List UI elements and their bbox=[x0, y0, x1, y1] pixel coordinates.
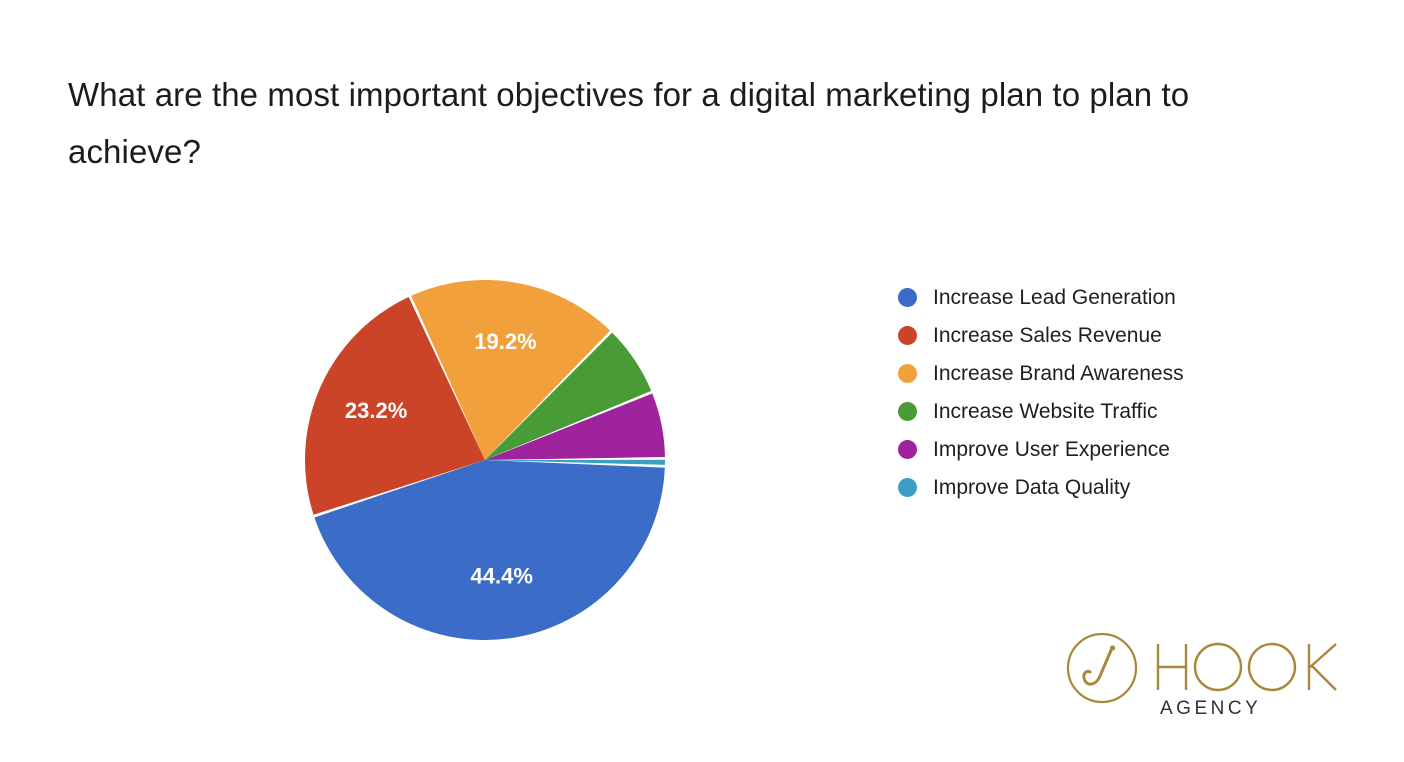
logo-wordmark-agency: AGENCY bbox=[1160, 698, 1261, 719]
slide-canvas: What are the most important objectives f… bbox=[0, 0, 1404, 762]
hook-agency-logo-svg: AGENCY bbox=[1062, 630, 1342, 720]
pie-chart-svg: 44.4%23.2%19.2% bbox=[275, 250, 695, 670]
logo-wordmark-hook bbox=[1158, 644, 1336, 690]
fish-hook-in-circle-icon bbox=[1068, 634, 1136, 702]
pie-slice-label: 23.2% bbox=[345, 398, 407, 423]
legend-item[interactable]: Improve Data Quality bbox=[898, 468, 1298, 506]
legend-dot-icon bbox=[898, 364, 917, 383]
pie-slice-label: 44.4% bbox=[471, 563, 533, 588]
legend-item[interactable]: Increase Sales Revenue bbox=[898, 316, 1298, 354]
legend-dot-icon bbox=[898, 478, 917, 497]
legend-item[interactable]: Increase Lead Generation bbox=[898, 278, 1298, 316]
legend-dot-icon bbox=[898, 440, 917, 459]
legend-item[interactable]: Increase Brand Awareness bbox=[898, 354, 1298, 392]
legend-dot-icon bbox=[898, 288, 917, 307]
legend-dot-icon bbox=[898, 402, 917, 421]
legend-item-label: Increase Sales Revenue bbox=[933, 325, 1162, 346]
legend-item[interactable]: Improve User Experience bbox=[898, 430, 1298, 468]
pie-slice-label: 19.2% bbox=[474, 329, 536, 354]
legend-item-label: Increase Website Traffic bbox=[933, 401, 1158, 422]
legend-item-label: Improve User Experience bbox=[933, 439, 1170, 460]
hook-agency-logo: AGENCY bbox=[1062, 630, 1342, 720]
legend-item[interactable]: Increase Website Traffic bbox=[898, 392, 1298, 430]
chart-legend: Increase Lead GenerationIncrease Sales R… bbox=[898, 278, 1298, 506]
legend-item-label: Increase Lead Generation bbox=[933, 287, 1176, 308]
legend-item-label: Improve Data Quality bbox=[933, 477, 1130, 498]
legend-item-label: Increase Brand Awareness bbox=[933, 363, 1184, 384]
legend-dot-icon bbox=[898, 326, 917, 345]
